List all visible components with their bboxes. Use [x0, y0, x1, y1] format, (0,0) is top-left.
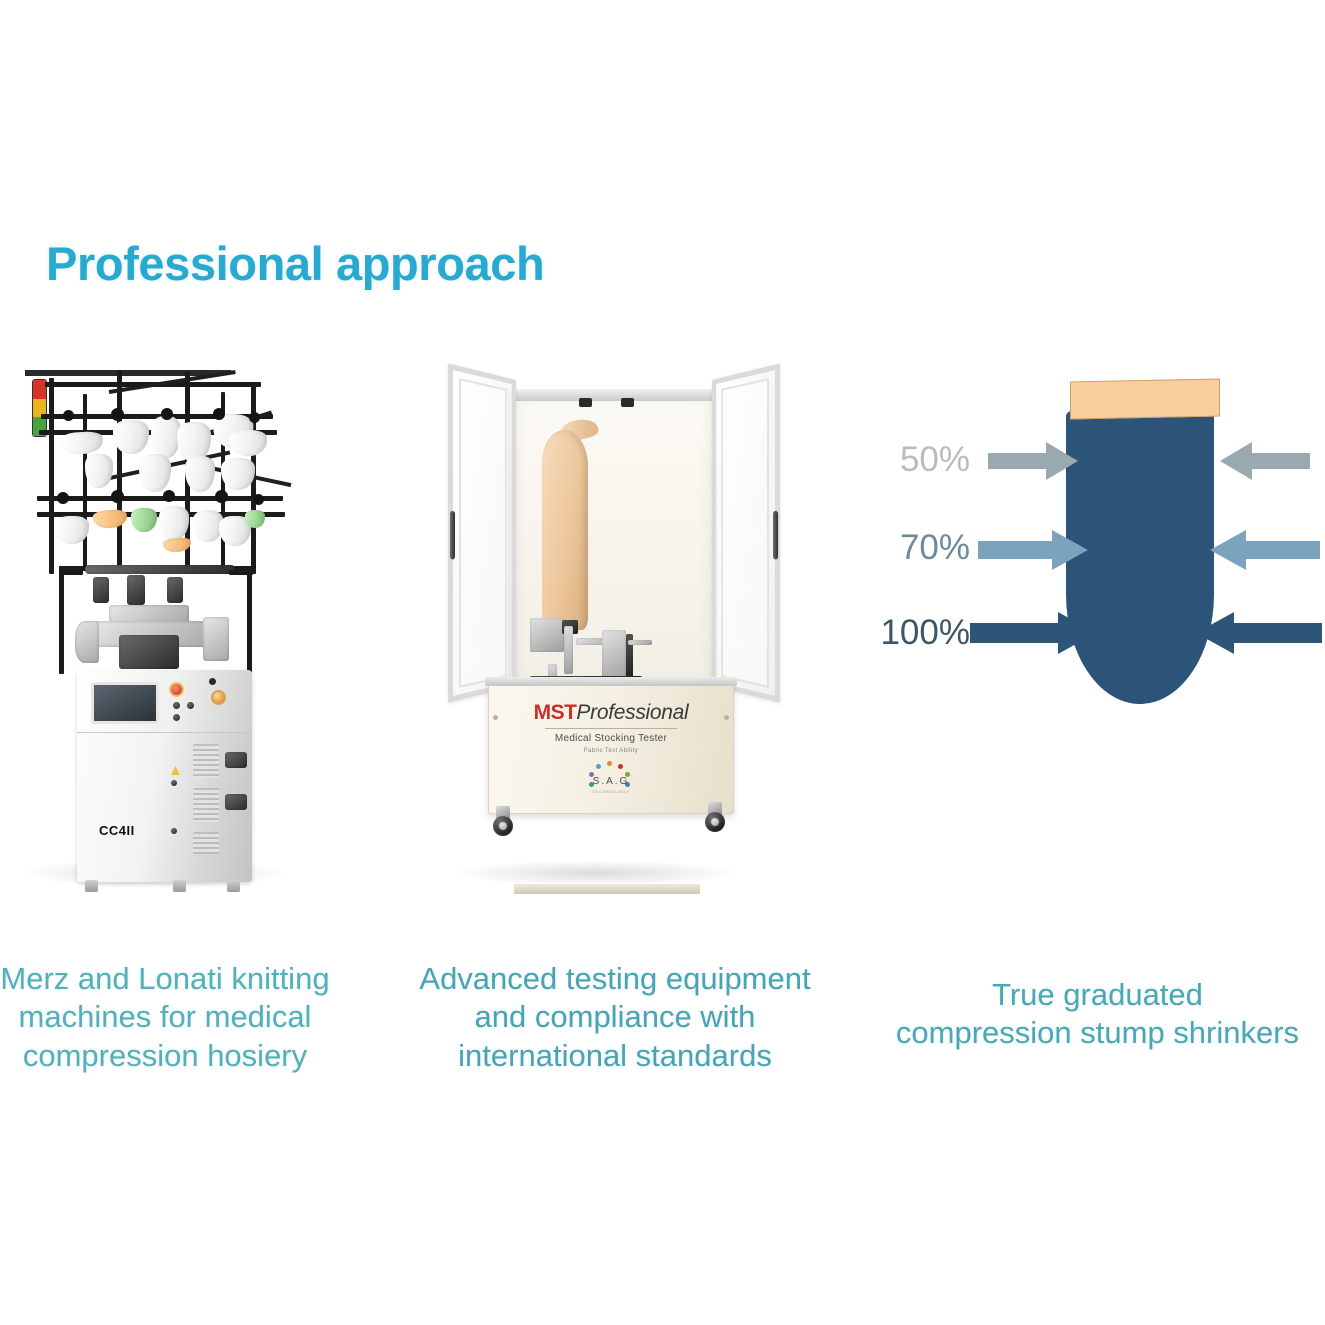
sag-logo: S.A.G TECHNOLOGY [585, 761, 637, 801]
signal-tower-icon [33, 380, 46, 436]
compression-arrow-left-50 [988, 442, 1078, 480]
panel-screw-1 [171, 780, 177, 786]
machine-cabinet: CC4II [77, 670, 252, 882]
caster-wheel-left [492, 806, 514, 836]
compression-arrow-right-100 [1196, 612, 1322, 654]
caption-line: international standards [400, 1037, 830, 1075]
page-title: Professional approach [46, 236, 544, 291]
caption-line: machines for medical [0, 998, 330, 1036]
compression-arrow-left-100 [970, 612, 1096, 654]
compression-arrow-right-70 [1210, 530, 1320, 570]
side-connector-2 [225, 794, 247, 810]
mst-brand-primary: MST [534, 701, 577, 724]
rig-clamp [602, 630, 626, 682]
body-latch-right [724, 715, 729, 720]
control-button-3[interactable] [187, 702, 194, 709]
knitting-head [75, 565, 255, 675]
rig-bracket [628, 640, 652, 645]
door-left-handle[interactable] [450, 511, 455, 560]
caption-knitting-machines: Merz and Lonati knitting machines for me… [0, 960, 330, 1075]
panel-screw-2 [171, 828, 177, 834]
warning-label-icon [171, 766, 180, 775]
cabinet-foot-mid [173, 880, 186, 892]
hmi-touchscreen[interactable] [91, 682, 159, 724]
door-right-handle[interactable] [773, 511, 778, 560]
caption-line: and compliance with [400, 998, 830, 1036]
cabinet-foot-right [227, 880, 240, 892]
control-button-2[interactable] [173, 714, 180, 721]
chamber-door-right[interactable] [712, 363, 780, 702]
stump-shrinker-band [1070, 379, 1220, 420]
mst-brand-divider [545, 728, 677, 729]
vent-grille-1 [193, 744, 219, 778]
mst-brand-tagline: Fabric Test Ability [489, 748, 733, 754]
compression-diagram: 50% 70% 100% [870, 360, 1325, 920]
chamber-knob-left [579, 398, 592, 407]
chamber-knob-right [621, 398, 634, 407]
caption-line: True graduated [870, 976, 1325, 1014]
rig-column [564, 626, 573, 674]
caption-line: Merz and Lonati knitting [0, 960, 330, 998]
door-left-glass [459, 378, 507, 688]
column-stump-shrinkers: 50% 70% 100% [870, 360, 1325, 1100]
body-latch-left [493, 715, 498, 720]
tester-body: MSTProfessional Medical Stocking Tester … [488, 684, 734, 814]
vent-grille-3 [193, 832, 219, 854]
stump-shrinker-body [1066, 410, 1214, 704]
machine-model-badge: CC4II [99, 823, 135, 838]
reset-button[interactable] [213, 692, 224, 703]
slide-root: Professional approach [0, 0, 1325, 1325]
caption-line: compression hosiery [0, 1037, 330, 1075]
vent-grille-2 [193, 788, 219, 822]
cabinet-foot-left [85, 880, 98, 892]
compression-label-70: 70% [870, 528, 970, 568]
emergency-stop-button[interactable] [171, 684, 182, 695]
mst-brand-secondary: Professional [576, 701, 688, 724]
column-testing-equipment: MSTProfessional Medical Stocking Tester … [400, 360, 830, 1100]
door-right-glass [721, 378, 769, 688]
side-connector-1 [225, 752, 247, 768]
mst-brand-subtitle: Medical Stocking Tester [489, 733, 733, 744]
compression-arrow-right-50 [1220, 442, 1310, 480]
leg-form [542, 430, 588, 630]
sag-logo-text: S.A.G [585, 776, 637, 787]
knitting-machine-photo: CC4II [0, 360, 330, 920]
caption-line: Advanced testing equipment [400, 960, 830, 998]
control-button-1[interactable] [173, 702, 180, 709]
knitting-machine-illustration: CC4II [25, 370, 315, 900]
chamber-top-rail [507, 389, 719, 401]
rig-plate [530, 618, 564, 652]
compression-label-100: 100% [856, 613, 970, 653]
chamber-floor [514, 884, 700, 894]
sag-logo-subtext: TECHNOLOGY [585, 789, 637, 794]
caption-line: compression stump shrinkers [870, 1014, 1325, 1052]
indicator-led [209, 678, 216, 685]
caption-stump-shrinkers: True graduated compression stump shrinke… [870, 976, 1325, 1053]
content-columns: CC4II Merz and Lonati knitting machines … [0, 360, 1325, 1100]
compression-illustration: 50% 70% 100% [870, 380, 1325, 900]
caster-wheel-right [704, 802, 726, 832]
mst-tester-photo: MSTProfessional Medical Stocking Tester … [400, 360, 830, 920]
compression-arrow-left-70 [978, 530, 1088, 570]
chamber-door-left[interactable] [448, 363, 516, 702]
caption-testing-equipment: Advanced testing equipment and complianc… [400, 960, 830, 1075]
column-knitting-machines: CC4II Merz and Lonati knitting machines … [0, 360, 330, 1100]
mst-brand-logo: MSTProfessional [489, 701, 733, 725]
mst-tester-illustration: MSTProfessional Medical Stocking Tester … [430, 372, 800, 902]
compression-label-50: 50% [870, 440, 970, 480]
